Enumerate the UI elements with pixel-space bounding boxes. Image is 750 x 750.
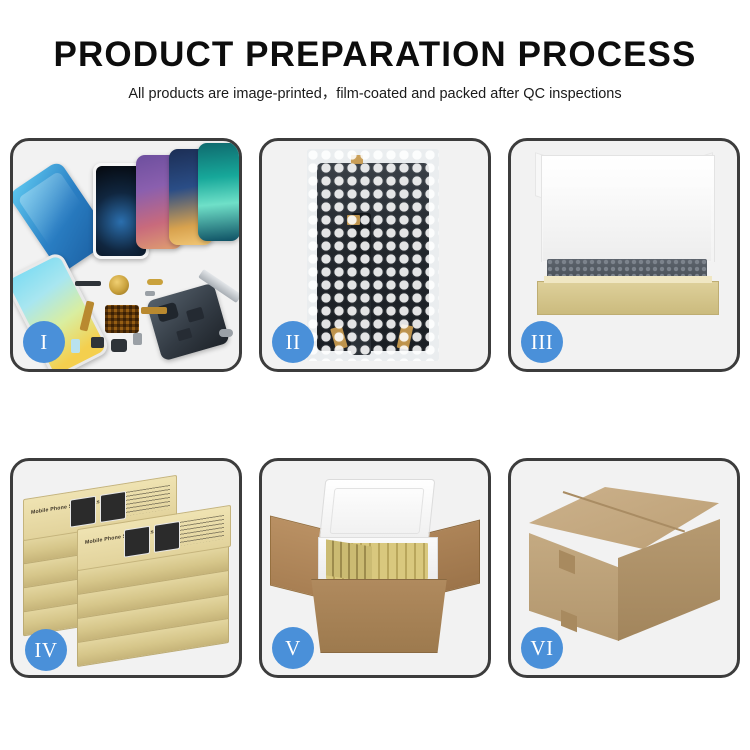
- logic-board-icon: [105, 305, 139, 333]
- header: PRODUCT PREPARATION PROCESS All products…: [0, 34, 750, 104]
- box-spec-text-block: [180, 515, 224, 546]
- box-product-photo: [124, 526, 150, 558]
- step-badge-4: IV: [25, 629, 67, 671]
- kraft-box-base: [537, 281, 719, 315]
- carton-front-panel: [302, 579, 456, 653]
- flex-cable-icon: [141, 307, 167, 314]
- packed-yellow-boxes: [326, 539, 372, 582]
- part-chip: [111, 339, 127, 352]
- step-badge-1: I: [23, 321, 65, 363]
- box-product-photo: [100, 491, 126, 523]
- part-chip: [75, 281, 101, 286]
- box-product-photo: [154, 521, 180, 553]
- part-chip: [133, 333, 142, 345]
- step-badge-2: II: [272, 321, 314, 363]
- part-chip: [219, 329, 233, 337]
- process-steps-grid: I II: [10, 138, 740, 678]
- page-subtitle: All products are image-printed，film-coat…: [0, 84, 750, 104]
- step-card-5[interactable]: V: [259, 458, 491, 678]
- step-badge-6: VI: [521, 627, 563, 669]
- bubble-texture: [307, 149, 439, 361]
- part-chip: [145, 291, 155, 296]
- foam-cooler-lid: [319, 479, 436, 543]
- teal-phone-icon: [198, 143, 239, 241]
- step-card-6[interactable]: VI: [508, 458, 740, 678]
- speaker-coil-icon: [109, 275, 129, 295]
- bubble-wrap-bag: [307, 149, 439, 361]
- step-card-4[interactable]: Mobile Phone Spare Parts Mobile Phone Sp…: [10, 458, 242, 678]
- step-card-1[interactable]: I: [10, 138, 242, 372]
- page-title: PRODUCT PREPARATION PROCESS: [0, 34, 750, 76]
- product-preparation-process-infographic: PRODUCT PREPARATION PROCESS All products…: [0, 0, 750, 750]
- foam-insert: [543, 187, 711, 261]
- box-product-photo: [70, 496, 96, 528]
- step-card-2[interactable]: II: [259, 138, 491, 372]
- part-chip: [147, 279, 163, 285]
- step-card-3[interactable]: III: [508, 138, 740, 372]
- box-spec-text-block: [126, 485, 170, 516]
- phone-back-shell-icon: [146, 283, 230, 362]
- part-chip: [71, 339, 80, 353]
- step-badge-3: III: [521, 321, 563, 363]
- part-chip: [91, 337, 104, 348]
- step-badge-5: V: [272, 627, 314, 669]
